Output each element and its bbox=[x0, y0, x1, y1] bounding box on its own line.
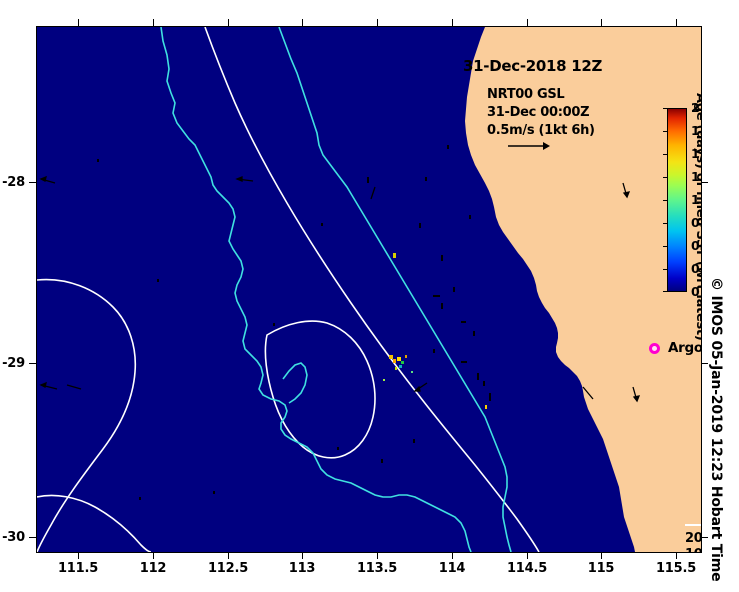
axis-label-x-113: 113 bbox=[272, 561, 332, 576]
map-canvas: 31-Dec-2018 12Z NRT00 GSL 31-Dec 00:00Z … bbox=[37, 27, 701, 552]
axis-tick-left bbox=[29, 363, 36, 364]
annotation-line-1: NRT00 GSL bbox=[487, 87, 564, 102]
depth-legend: 200m 1000m bbox=[685, 527, 702, 553]
depth-legend-label-1000m: 1000m bbox=[685, 547, 702, 553]
axis-tick-bottom bbox=[527, 552, 528, 559]
axis-label-y-30: -30 bbox=[0, 530, 25, 545]
depth-legend-row-200m: 200m bbox=[685, 527, 702, 543]
axis-tick-top bbox=[302, 19, 303, 26]
axis-label-x-1115: 111.5 bbox=[48, 561, 108, 576]
map-plot-area[interactable]: 31-Dec-2018 12Z NRT00 GSL 31-Dec 00:00Z … bbox=[36, 26, 702, 553]
axis-tick-top bbox=[377, 19, 378, 26]
colorbar-tick bbox=[663, 177, 668, 178]
axis-label-x-112: 112 bbox=[123, 561, 183, 576]
colorbar-tick bbox=[663, 246, 668, 247]
axis-tick-top bbox=[78, 19, 79, 26]
axis-tick-left bbox=[29, 182, 36, 183]
axis-tick-bottom bbox=[228, 552, 229, 559]
axis-tick-bottom bbox=[78, 552, 79, 559]
axis-label-y-29: -29 bbox=[0, 356, 25, 371]
colorbar: 2 1.75 1.5 1.25 1 0.75 0.5 0.25 0 bbox=[667, 108, 687, 292]
colorbar-tick bbox=[663, 108, 668, 109]
axis-tick-right bbox=[701, 363, 708, 364]
axis-label-y-28: -28 bbox=[0, 175, 25, 190]
colorbar-title: Age (days) of filled SST (wrt latest) bbox=[693, 93, 702, 303]
axis-tick-top bbox=[676, 19, 677, 26]
axis-tick-bottom bbox=[153, 552, 154, 559]
argo-legend: Argo bbox=[649, 340, 702, 356]
axis-tick-bottom bbox=[377, 552, 378, 559]
axis-label-x-114: 114 bbox=[422, 561, 482, 576]
depth-legend-row-1000m: 1000m bbox=[685, 543, 702, 553]
copyright-credit: © IMOS 05-Jan-2019 12:23 Hobart Time bbox=[708, 277, 724, 577]
axis-tick-bottom bbox=[601, 552, 602, 559]
axis-tick-bottom bbox=[676, 552, 677, 559]
axis-label-x-115: 115 bbox=[571, 561, 631, 576]
axis-tick-top bbox=[452, 19, 453, 26]
axis-tick-right bbox=[701, 182, 708, 183]
axis-label-x-1125: 112.5 bbox=[198, 561, 258, 576]
figure-root: 31-Dec-2018 12Z NRT00 GSL 31-Dec 00:00Z … bbox=[0, 0, 739, 592]
axis-label-x-1135: 113.5 bbox=[347, 561, 407, 576]
axis-tick-top bbox=[228, 19, 229, 26]
axis-label-x-1155: 115.5 bbox=[646, 561, 706, 576]
annotation-line-3: 0.5m/s (1kt 6h) bbox=[487, 123, 595, 138]
right-arrow-icon bbox=[507, 139, 551, 153]
argo-marker-icon bbox=[649, 343, 660, 354]
argo-legend-label: Argo bbox=[668, 340, 702, 356]
axis-tick-bottom bbox=[302, 552, 303, 559]
colorbar-tick bbox=[663, 154, 668, 155]
colorbar-tick bbox=[663, 223, 668, 224]
depth-legend-line-200m bbox=[685, 524, 702, 526]
map-layers bbox=[37, 27, 701, 552]
colorbar-tick bbox=[663, 269, 668, 270]
axis-label-x-1145: 114.5 bbox=[497, 561, 557, 576]
colorbar-tick bbox=[663, 131, 668, 132]
axis-tick-top bbox=[527, 19, 528, 26]
axis-tick-top bbox=[153, 19, 154, 26]
axis-tick-right bbox=[701, 537, 708, 538]
annotation-line-2: 31-Dec 00:00Z bbox=[487, 105, 589, 120]
map-title: 31-Dec-2018 12Z bbox=[463, 57, 602, 75]
colorbar-tick bbox=[663, 291, 668, 292]
axis-tick-top bbox=[601, 19, 602, 26]
colorbar-gradient bbox=[667, 108, 687, 292]
colorbar-tick bbox=[663, 200, 668, 201]
axis-tick-left bbox=[29, 537, 36, 538]
axis-tick-bottom bbox=[452, 552, 453, 559]
